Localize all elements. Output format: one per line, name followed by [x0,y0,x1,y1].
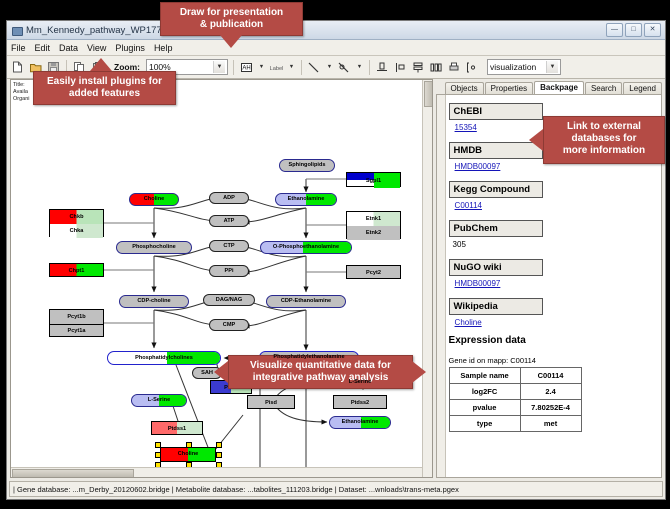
expression-data-heading: Expression data [449,335,661,346]
gene-label: Pcyt2 [366,270,381,276]
node-label: SAH [201,370,213,377]
callout-link-arrow [529,129,543,151]
tab-properties[interactable]: Properties [485,82,533,94]
align-top-icon[interactable] [375,59,390,75]
panel-left-scrollbar[interactable] [437,95,446,477]
db-wikipedia-link[interactable]: Choline [455,318,661,327]
stack-icon[interactable] [411,59,426,75]
node-ethanolamine-top[interactable]: Ethanolamine [275,193,337,206]
node-label: ADP [223,195,235,202]
gene-chpt1[interactable]: Chpt1 [49,263,104,277]
table-row: log2FC 2.4 [449,384,581,400]
datanode-dropdown-icon[interactable]: ▼ [257,60,266,74]
gene-label: Etnk2 [366,230,381,236]
gene-label: Chpt1 [69,268,85,274]
gene-id-line: Gene id on mapp: C00114 [449,356,661,365]
gene-etnk1[interactable]: Etnk1 [347,212,400,227]
line-icon[interactable] [307,59,322,75]
svg-text:AH: AH [242,65,250,71]
expression-value: 7.80252E-4 [520,400,581,416]
visualization-value: visualization [490,62,546,72]
node-label: Choline [178,451,199,458]
node-label: Phosphatidylcholines [135,355,193,362]
menu-item-data[interactable]: Data [59,43,78,53]
expression-key: pvalue [449,400,520,416]
node-ctp[interactable]: CTP [209,240,249,252]
menu-item-help[interactable]: Help [154,43,173,53]
gene-label: Pisd [265,400,277,406]
tab-objects[interactable]: Objects [445,82,484,94]
align-left-icon[interactable] [393,59,408,75]
node-label: Phosphocholine [132,244,176,251]
anchor-icon[interactable] [337,59,352,75]
node-label: CDP-choline [137,298,170,305]
node-label: O-Phosphoethanolamine [273,244,339,251]
callout-link: Link to external databases for more info… [543,116,665,164]
gene-sgpl1[interactable]: Sgpl1 [346,172,401,187]
minimize-button[interactable]: — [606,23,623,37]
tab-backpage[interactable]: Backpage [534,81,584,94]
canvas-hscroll-thumb[interactable] [12,469,134,478]
gene-ptdss1[interactable]: Ptdss1 [151,421,203,435]
db-kegg-link[interactable]: C00114 [455,201,661,210]
db-nugo-link[interactable]: HMDB00097 [455,279,661,288]
gene-group-pcyt1[interactable]: Pcyt1b Pcyt1a [49,309,104,337]
expression-key: log2FC [449,384,520,400]
bracket-icon[interactable] [465,59,480,75]
node-label: PPi [224,268,233,275]
expression-table: Sample name C00114 log2FC 2.4 pvalue 7.8… [449,367,582,432]
tab-legend[interactable]: Legend [623,82,662,94]
db-kegg-header: Kegg Compound [449,181,543,198]
node-dag-nag[interactable]: DAG/NAG [203,294,255,306]
datanode-icon[interactable]: AH [239,59,254,75]
window-controls: — □ ✕ [606,23,661,37]
node-adp[interactable]: ADP [209,192,249,204]
toolbar-separator [369,60,370,75]
node-l-serine-left[interactable]: L-Serine [131,394,187,407]
title-bar: Mm_Kennedy_pathway_WP1771_45176.gpml — □… [7,21,665,40]
gene-label: Chka [70,228,84,234]
callout-visualize-line2: integrative pathway analysis [235,372,406,384]
gene-group-etnk[interactable]: Etnk1 Etnk2 [346,211,401,239]
screenshot-root: Mm_Kennedy_pathway_WP1771_45176.gpml — □… [0,0,670,509]
menu-item-edit[interactable]: Edit [35,43,51,53]
node-label: L-Serine [148,397,170,404]
gene-ptdss2[interactable]: Ptdss2 [333,395,387,409]
callout-visualize-arrow-right [412,361,426,383]
table-row: type met [449,416,581,432]
node-label: Phosphatidylethanolamine [273,354,344,361]
label-icon[interactable]: Label [269,59,284,75]
menu-item-plugins[interactable]: Plugins [115,43,145,53]
gene-pcyt1b[interactable]: Pcyt1b [50,310,103,325]
distribute-icon[interactable] [429,59,444,75]
gene-label: Sgpl1 [366,178,381,184]
gene-group-chk[interactable]: Chkb Chka [49,209,104,237]
node-choline-top[interactable]: Choline [129,193,179,206]
close-button[interactable]: ✕ [644,23,661,37]
node-label: Ethanolamine [288,196,325,203]
expression-value: C00114 [520,368,581,384]
node-cmp[interactable]: CMP [209,319,249,331]
gene-label: Chkb [70,214,84,220]
db-kegg: Kegg Compound C00114 [449,179,661,210]
visualization-combobox[interactable]: visualization ▼ [487,59,561,75]
callout-draw-line2: & publication [167,19,296,31]
gene-label: Pcyt1b [67,314,85,320]
callout-plugins-line1: Easily install plugins for [40,76,169,88]
expression-key: type [449,416,520,432]
callout-visualize-arrow-left [214,361,228,383]
chevron-down-icon[interactable]: ▼ [213,61,225,73]
gene-chkb[interactable]: Chkb [50,210,103,225]
canvas-vscrollbar[interactable] [422,80,432,477]
callout-plugins-arrow [90,58,112,71]
chevron-down-icon[interactable]: ▼ [546,61,558,73]
line-dropdown-icon[interactable]: ▼ [325,60,334,74]
callout-draw: Draw for presentation & publication [160,2,303,36]
node-phosphocholine[interactable]: Phosphocholine [116,241,192,254]
gene-label: Etnk1 [366,216,381,222]
node-sphingolipids[interactable]: Sphingolipids [279,159,335,172]
toolbar-separator [233,60,234,75]
db-pubchem-header: PubChem [449,220,543,237]
side-panel-tabs: Objects Properties Backpage Search Legen… [436,79,662,94]
gene-label: Ptdss1 [168,426,186,432]
callout-link-line1: Link to external [550,121,658,133]
new-file-icon[interactable] [10,59,25,75]
callout-draw-arrow [220,35,242,48]
node-label: DAG/NAG [216,297,242,304]
gene-pcyt2[interactable]: Pcyt2 [346,265,401,279]
gene-pcyt1a[interactable]: Pcyt1a [50,324,103,338]
db-nugo-header: NuGO wiki [449,259,543,276]
node-label: CDP-Ethanolamine [281,298,331,305]
expression-key: Sample name [449,368,520,384]
node-label: L-Serine [349,379,371,386]
gene-label: Ptdss2 [351,400,369,406]
node-label: Sphingolipids [289,162,326,169]
node-label: CTP [223,243,234,250]
node-label: Choline [144,196,165,203]
expression-value: met [520,416,581,432]
node-phosphatidylcholines[interactable]: Phosphatidylcholines [107,351,221,365]
gene-chka[interactable]: Chka [50,224,103,238]
toolbar-separator [301,60,302,75]
svg-text:Label: Label [270,65,284,71]
expression-value: 2.4 [520,384,581,400]
print-icon[interactable] [447,59,462,75]
status-bar: | Gene database: ...m_Derby_20120602.bri… [9,481,663,497]
callout-visualize-line1: Visualize quantitative data for [235,360,406,372]
callout-plugins-line2: added features [40,88,169,100]
app-icon [11,25,22,36]
callout-draw-line1: Draw for presentation [167,7,296,19]
menu-item-view[interactable]: View [87,43,106,53]
anchor-dropdown-icon[interactable]: ▼ [355,60,364,74]
node-ethanolamine-low[interactable]: Ethanolamine [329,416,391,429]
db-wikipedia-header: Wikipedia [449,298,543,315]
pathway-canvas[interactable]: Title: Availa Organi [10,79,433,478]
db-pubchem-value: 305 [453,240,661,249]
db-wikipedia: Wikipedia Choline [449,296,661,327]
callout-link-line2: databases for [550,133,658,145]
node-label: ATP [224,218,235,225]
gene-pisd[interactable]: Pisd [247,395,295,409]
maximize-button[interactable]: □ [625,23,642,37]
canvas-vscroll-thumb[interactable] [424,81,433,107]
node-label: CMP [223,322,235,329]
db-pubchem: PubChem 305 [449,218,661,249]
callout-link-line3: more information [550,145,658,157]
gene-label: Pcyt1a [67,328,85,334]
node-label: Ethanolamine [342,419,379,426]
table-row: pvalue 7.80252E-4 [449,400,581,416]
label-dropdown-icon[interactable]: ▼ [287,60,296,74]
node-cdp-choline[interactable]: CDP-choline [119,295,189,308]
node-atp[interactable]: ATP [209,215,249,227]
tab-search[interactable]: Search [585,82,622,94]
menu-item-file[interactable]: File [11,43,26,53]
node-o-phosphoethanolamine[interactable]: O-Phosphoethanolamine [260,241,352,254]
canvas-hscrollbar[interactable] [11,467,432,477]
menu-bar: File Edit Data View Plugins Help [7,40,665,56]
gene-etnk2[interactable]: Etnk2 [347,226,400,240]
db-nugo: NuGO wiki HMDB00097 [449,257,661,288]
node-cdp-ethanolamine[interactable]: CDP-Ethanolamine [266,295,346,308]
db-chebi-header: ChEBI [449,103,543,120]
node-ppi[interactable]: PPi [209,265,249,277]
callout-plugins: Easily install plugins for added feature… [33,71,176,105]
table-row: Sample name C00114 [449,368,581,384]
status-text: | Gene database: ...m_Derby_20120602.bri… [10,485,459,494]
